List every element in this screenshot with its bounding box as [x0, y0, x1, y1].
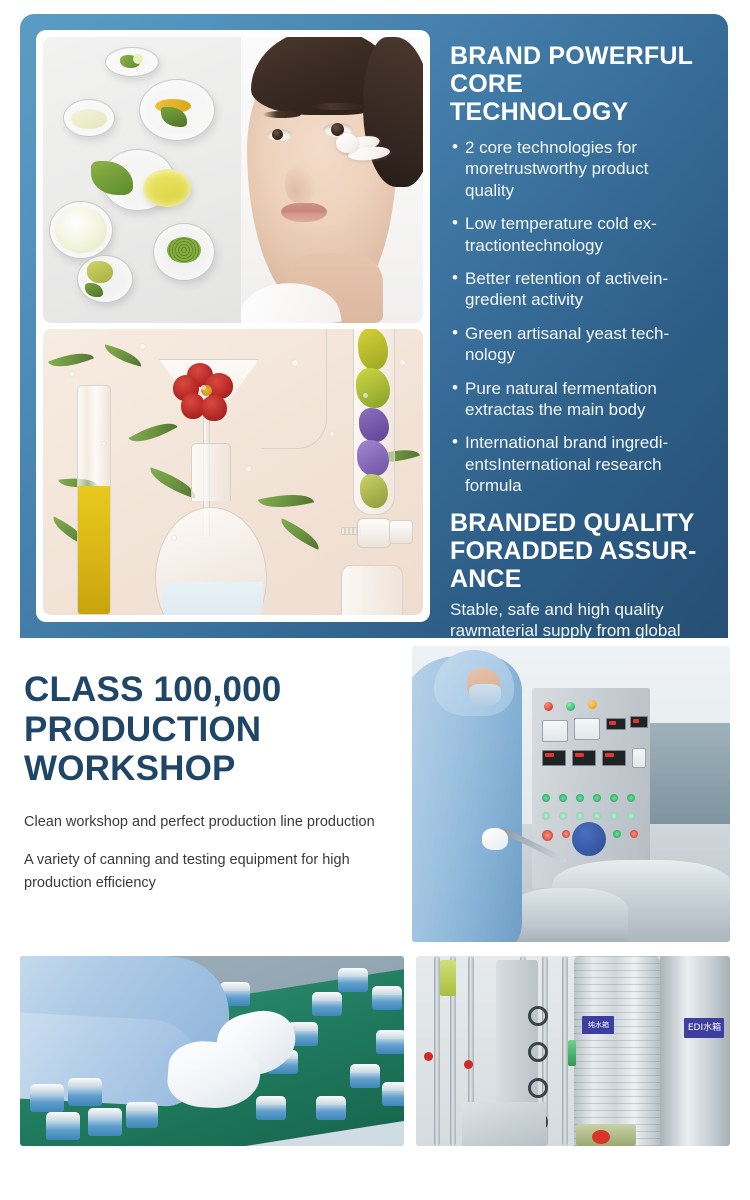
- workshop-text-column: CLASS 100,000 PRODUCTION WORKSHOP Clean …: [20, 646, 412, 942]
- panel-heading-secondary: BRANDED QUALITY FORADDED ASSUR-ANCE: [450, 509, 698, 593]
- list-item: Low temperature cold ex-tractiontechnolo…: [450, 213, 698, 256]
- media-card: [36, 30, 430, 622]
- workshop-paragraph-2: A variety of canning and testing equipme…: [24, 849, 392, 894]
- list-item: Pure natural fermentation extractas the …: [450, 378, 698, 421]
- brand-technology-panel: BRAND POWERFUL CORE TECHNOLOGY 2 core te…: [20, 14, 728, 638]
- panel-heading-primary: BRAND POWERFUL CORE TECHNOLOGY: [450, 42, 698, 126]
- panel-text-column: BRAND POWERFUL CORE TECHNOLOGY 2 core te…: [430, 30, 712, 622]
- list-item: Better retention of activein-gredient ac…: [450, 268, 698, 311]
- laboratory-glassware-image: [43, 329, 423, 615]
- model-face-image: [241, 37, 423, 323]
- tank-tag-pure-water: 纯水箱: [582, 1016, 614, 1034]
- workshop-section: CLASS 100,000 PRODUCTION WORKSHOP Clean …: [0, 646, 750, 1146]
- water-treatment-tanks-image: 纯水箱 EDI水箱: [416, 956, 730, 1146]
- cleanroom-operator-image: [412, 646, 730, 942]
- list-item: Green artisanal yeast tech-nology: [450, 323, 698, 366]
- list-item: International brand ingredi-entsInternat…: [450, 432, 698, 496]
- technology-bullet-list: 2 core technologies for moretrustworthy …: [450, 137, 698, 497]
- media-top-row: [43, 37, 423, 323]
- list-item: 2 core technologies for moretrustworthy …: [450, 137, 698, 201]
- tank-tag-edi-water: EDI水箱: [684, 1018, 724, 1038]
- filling-line-image: [20, 956, 404, 1146]
- page-title: CLASS 100,000 PRODUCTION WORKSHOP: [24, 670, 392, 789]
- petri-dishes-image: [43, 37, 241, 323]
- worker-image-wrap: [412, 646, 730, 942]
- workshop-paragraph-1: Clean workshop and perfect production li…: [24, 811, 392, 834]
- page-root: BRAND POWERFUL CORE TECHNOLOGY 2 core te…: [0, 0, 750, 1200]
